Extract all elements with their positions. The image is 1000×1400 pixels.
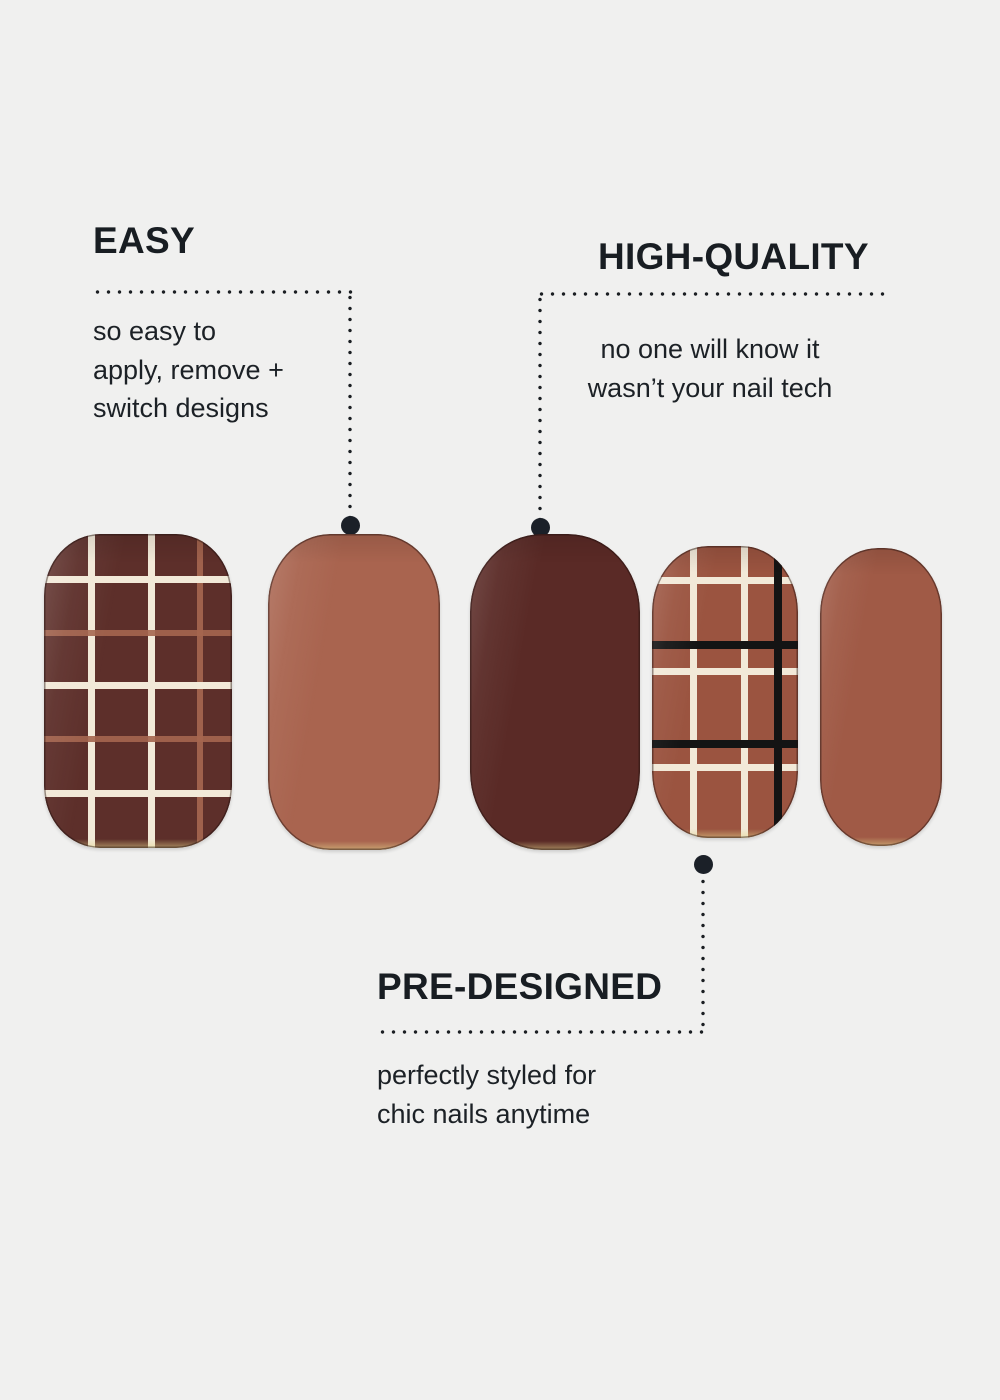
callout-title-pre-designed: PRE-DESIGNED	[377, 968, 662, 1005]
callout-body-pre-designed: perfectly styled for chic nails anytime	[377, 1056, 596, 1133]
callout-title-high-quality: HIGH-QUALITY	[598, 238, 869, 275]
connector-dot-pre-designed	[694, 855, 713, 874]
callout-body-high-quality: no one will know it wasn’t your nail tec…	[535, 330, 885, 407]
connector-line-easy-horizontal	[92, 290, 354, 294]
connector-line-high-quality-horizontal	[536, 292, 886, 296]
nail-5-base	[820, 548, 942, 846]
connector-line-pre-designed-vertical	[701, 876, 705, 1032]
promo-graphic: EASY so easy to apply, remove + switch d…	[0, 0, 1000, 1400]
nail-1-gridline-h2	[44, 682, 232, 689]
nail-wrap-3-deep-burgundy-solid	[470, 534, 640, 850]
callout-body-easy: so easy to apply, remove + switch design…	[93, 312, 284, 428]
nail-2-base	[268, 534, 440, 850]
connector-line-pre-designed-horizontal	[377, 1030, 705, 1034]
nail-1-gridline-h1	[44, 576, 232, 583]
callout-title-easy: EASY	[93, 222, 195, 259]
nail-4-gridline-v2	[741, 546, 748, 838]
connector-dot-easy	[341, 516, 360, 535]
nail-4-gridline-v1	[690, 546, 697, 838]
nail-1-accent-h1	[44, 630, 232, 636]
nail-1-accent-h2	[44, 736, 232, 742]
nail-4-black-accent-h1	[652, 641, 798, 649]
nail-1-gridline-h3	[44, 790, 232, 797]
nail-wrap-1-dark-maroon-grid	[44, 534, 232, 848]
nail-3-base	[470, 534, 640, 850]
nail-wrap-4-terracotta-black-grid	[652, 546, 798, 838]
nail-4-black-accent-v	[774, 546, 782, 838]
nail-4-black-accent-h2	[652, 740, 798, 748]
nail-wrap-5-rust-solid	[820, 548, 942, 846]
nail-wrap-2-terracotta-solid	[268, 534, 440, 850]
connector-line-easy-vertical	[348, 292, 352, 528]
